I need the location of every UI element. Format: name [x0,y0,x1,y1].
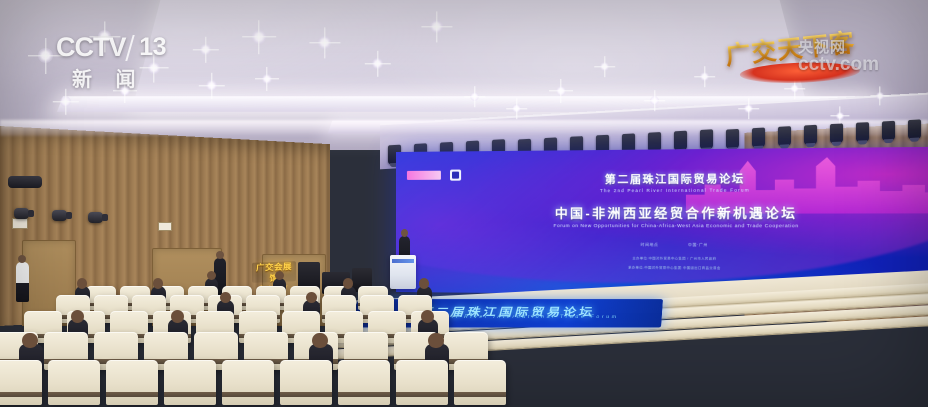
stage-light-21 [908,120,921,140]
stage-light-13 [700,130,713,150]
audience-member-head [343,278,353,288]
channel-logo: CCTV 13 新 闻 [56,33,166,89]
downlight-20 [876,92,884,100]
stage-light-14 [726,128,739,148]
channel-category: 新 闻 [56,63,166,92]
standing-staff-mid-head [216,251,224,259]
downlight-13 [556,86,566,96]
channel-logo-row: CCTV 13 [56,33,166,62]
stage-light-19 [856,122,869,142]
downlight-12 [60,96,71,107]
speaker-head [401,229,408,237]
audience-member-head [220,292,231,303]
organizer-right: 中国·广州 [688,242,708,246]
wall-exit-sign-right [158,222,172,231]
audience-member-head [77,278,87,288]
audience-seat [396,360,448,405]
audience-seat [106,360,158,405]
downlight-21 [512,104,521,113]
wall-spotlight-2 [52,210,67,221]
wall-spotlight-1 [14,208,29,219]
standing-staff-left-head [18,255,26,263]
audience-member-head [306,292,317,303]
stage-light-17 [804,125,817,145]
audience-member-head [275,271,284,280]
downlight-14 [600,62,609,71]
audience-member-head [207,271,216,280]
stage-light-18 [830,123,843,143]
downlight-1 [38,48,53,63]
organizer-left: 时间地点 [641,242,659,246]
downlight-4 [206,80,217,91]
audience-seat [222,360,274,405]
audience-seat [0,360,42,405]
stage-light-12 [674,131,687,151]
downlight-8 [430,20,443,33]
watermark-en: cctv.com [798,54,928,76]
downlight-22 [470,92,479,101]
downlight-5 [252,30,266,44]
audience-member-head [419,278,429,288]
audience-member-head [153,278,163,288]
podium [390,255,416,289]
standing-staff-left [16,262,29,302]
downlight-7 [372,58,383,69]
downlight-16 [700,72,709,81]
wall-speaker-box [8,176,42,188]
downlight-10 [200,44,211,55]
downlight-6 [318,36,331,49]
downlight-18 [790,84,799,93]
wall-exit-sign-left [12,218,28,229]
channel-name: CCTV [56,33,126,62]
stage-light-15 [752,127,765,147]
wall-spotlight-3 [88,212,103,223]
audience-seat [164,360,216,405]
channel-number: 13 [139,33,166,62]
downlight-17 [744,104,753,113]
downlight-15 [650,96,659,105]
audience-seat [338,360,390,405]
site-watermark: 央视网 cctv.com [798,36,928,80]
broadcast-frame: 第二届珠江国际贸易论坛 The 2nd Pearl River Internat… [0,0,928,407]
screen-subtitle-cn: 中国-非洲西亚经贸合作新机遇论坛 [396,202,928,222]
downlight-9 [262,74,272,84]
screen-subtitle-en: Forum on New Opportunities for China-Afr… [396,223,928,228]
audience-seat [454,360,506,405]
stage-light-20 [882,121,895,141]
audience-seat [280,360,332,405]
audience-seat [48,360,100,405]
stage-light-16 [778,126,791,146]
screen-headline-cn: 第二届珠江国际贸易论坛 [396,169,928,188]
